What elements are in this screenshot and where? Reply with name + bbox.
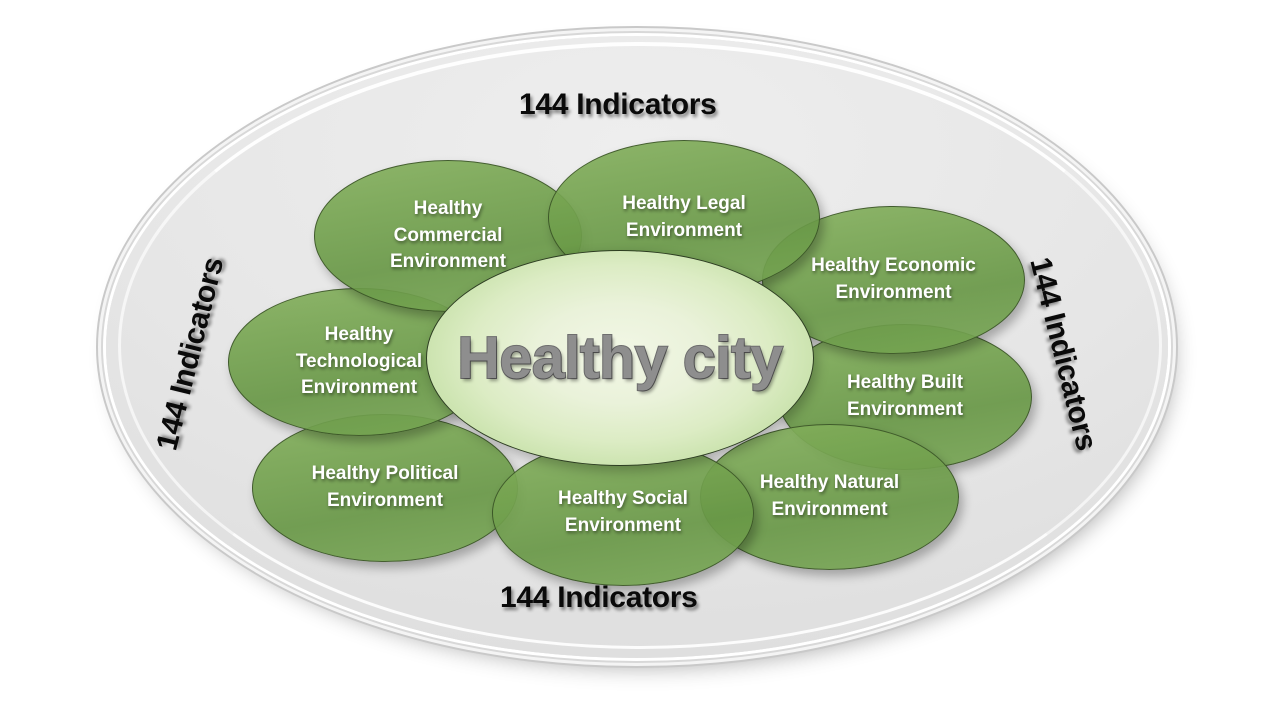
indicators-label-top: 144 Indicators [519, 88, 717, 122]
indicators-label-bottom: 144 Indicators [500, 581, 698, 615]
petal-label: Healthy Natural Environment [750, 470, 909, 524]
petal-label-line-1: Healthy Social [558, 488, 688, 509]
petal-label-line-1: Healthy [325, 324, 394, 345]
petal-label: Healthy Commercial Environment [380, 196, 516, 277]
petal-label: Healthy Economic Environment [801, 253, 986, 307]
petal-label-line-2: Environment [327, 490, 443, 511]
petal-label: Healthy Legal Environment [612, 191, 756, 245]
petal-label-line-1: Healthy Natural [760, 472, 899, 493]
petal-label: Healthy Social Environment [548, 486, 698, 540]
petal-label-line-2: Environment [835, 282, 951, 303]
petal-label-line-2: Technological [296, 351, 422, 372]
petal-label-line-1: Healthy Economic [811, 255, 976, 276]
petal-label: Healthy Political Environment [302, 461, 469, 515]
petal-label-line-2: Environment [626, 220, 742, 241]
petal-label-line-2: Commercial [394, 225, 503, 246]
petal-label-line-1: Healthy Legal [622, 193, 746, 214]
petal-label: Healthy Built Environment [837, 370, 973, 424]
center-healthy-city-ellipse[interactable]: Healthy city [426, 250, 814, 466]
petal-label: Healthy Technological Environment [286, 322, 432, 403]
diagram-canvas: 144 Indicators 144 Indicators 144 Indica… [0, 0, 1280, 720]
petal-healthy-political-environment[interactable]: Healthy Political Environment [252, 414, 518, 562]
petal-label-line-2: Environment [847, 399, 963, 420]
petal-label-line-1: Healthy Political [312, 463, 459, 484]
petal-label-line-2: Environment [771, 499, 887, 520]
petal-label-line-2: Environment [565, 515, 681, 536]
petal-label-line-1: Healthy Built [847, 372, 963, 393]
center-title: Healthy city [457, 324, 782, 392]
petal-label-line-1: Healthy [414, 198, 483, 219]
petal-label-line-3: Environment [390, 251, 506, 272]
petal-label-line-3: Environment [301, 377, 417, 398]
